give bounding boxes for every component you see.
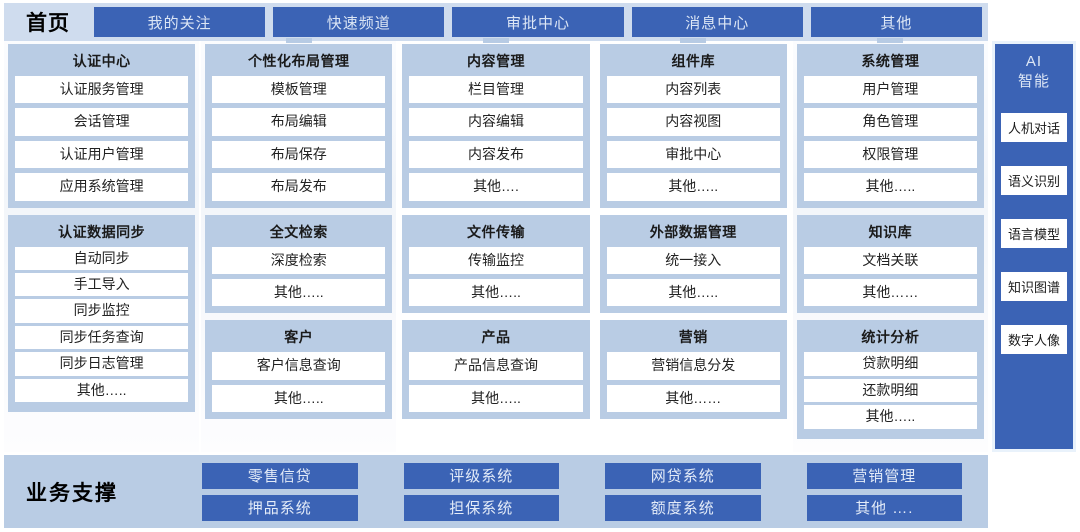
ai-item-human-machine-dialog[interactable]: 人机对话 [1001, 113, 1067, 142]
menu-item[interactable]: 营销信息分发 [607, 352, 780, 379]
group-content-management: 内容管理 栏目管理 内容编辑 内容发布 其他…. [402, 44, 589, 208]
ai-title-line-1: AI [1018, 52, 1050, 72]
menu-item[interactable]: 模板管理 [212, 76, 385, 103]
group-personalized-layout: 个性化布局管理 模板管理 布局编辑 布局保存 布局发布 [205, 44, 392, 208]
menu-item[interactable]: 栏目管理 [409, 76, 582, 103]
menu-item[interactable]: 统一接入 [607, 247, 780, 274]
group-fulltext-search: 全文检索 深度检索 其他….. [205, 215, 392, 314]
business-support-systems: 零售信贷 评级系统 网贷系统 营销管理 押品系统 担保系统 额度系统 其他 …. [202, 463, 980, 521]
group-title: 个性化布局管理 [212, 48, 385, 76]
menu-item[interactable]: 内容视图 [607, 108, 780, 135]
business-support-bar: 业务支撑 零售信贷 评级系统 网贷系统 营销管理 押品系统 担保系统 额度系统 … [4, 455, 988, 528]
menu-item[interactable]: 其他….. [212, 385, 385, 412]
group-system-management: 系统管理 用户管理 角色管理 权限管理 其他….. [797, 44, 984, 208]
system-online-loan[interactable]: 网贷系统 [605, 463, 761, 489]
group-component-library: 组件库 内容列表 内容视图 审批中心 其他….. [600, 44, 787, 208]
menu-item[interactable]: 自动同步 [15, 247, 188, 270]
group-auth-data-sync: 认证数据同步 自动同步 手工导入 同步监控 同步任务查询 同步日志管理 其他….… [8, 215, 195, 412]
system-other[interactable]: 其他 …. [807, 495, 963, 521]
menu-item[interactable]: 文档关联 [804, 247, 977, 274]
ai-title-line-2: 智能 [1018, 72, 1050, 92]
module-column-3: 内容管理 栏目管理 内容编辑 内容发布 其他…. 文件传输 传输监控 其他…..… [398, 41, 593, 452]
menu-item[interactable]: 传输监控 [409, 247, 582, 274]
tab-my-focus[interactable]: 我的关注 [94, 7, 265, 37]
menu-item[interactable]: 布局编辑 [212, 108, 385, 135]
system-credit-limit[interactable]: 额度系统 [605, 495, 761, 521]
menu-item[interactable]: 应用系统管理 [15, 173, 188, 200]
menu-item[interactable]: 贷款明细 [804, 352, 977, 375]
menu-item[interactable]: 其他….. [212, 279, 385, 306]
system-retail-credit[interactable]: 零售信贷 [202, 463, 358, 489]
ai-item-digital-persona[interactable]: 数字人像 [1001, 325, 1067, 354]
system-guarantee[interactable]: 担保系统 [404, 495, 560, 521]
menu-item[interactable]: 其他….. [409, 385, 582, 412]
ai-sidebar: AI 智能 人机对话 语义识别 语言模型 知识图谱 数字人像 [992, 41, 1076, 452]
tab-connector-notch [483, 38, 509, 43]
top-tab-bar: 首页 我的关注 快速频道 审批中心 消息中心 其他 [4, 3, 988, 41]
group-product: 产品 产品信息查询 其他….. [402, 320, 589, 419]
menu-item[interactable]: 同步任务查询 [15, 326, 188, 349]
tab-connector-notch [877, 38, 903, 43]
group-title: 客户 [212, 324, 385, 352]
tab-quick-channel[interactable]: 快速频道 [273, 7, 444, 37]
module-column-4: 组件库 内容列表 内容视图 审批中心 其他….. 外部数据管理 统一接入 其他…… [596, 41, 791, 452]
ai-item-knowledge-graph[interactable]: 知识图谱 [1001, 272, 1067, 301]
group-statistical-analysis: 统计分析 贷款明细 还款明细 其他….. [797, 320, 984, 438]
menu-item[interactable]: 角色管理 [804, 108, 977, 135]
menu-item[interactable]: 布局发布 [212, 173, 385, 200]
ai-item-language-model[interactable]: 语言模型 [1001, 219, 1067, 248]
group-title: 全文检索 [212, 219, 385, 247]
ai-sidebar-title: AI 智能 [1018, 52, 1050, 93]
module-column-5: 系统管理 用户管理 角色管理 权限管理 其他….. 知识库 文档关联 其他…… … [793, 41, 988, 452]
page-title: 首页 [6, 7, 90, 37]
group-knowledge-base: 知识库 文档关联 其他…… [797, 215, 984, 314]
menu-item[interactable]: 产品信息查询 [409, 352, 582, 379]
group-title: 系统管理 [804, 48, 977, 76]
menu-item[interactable]: 同步日志管理 [15, 352, 188, 375]
module-column-1: 认证中心 认证服务管理 会话管理 认证用户管理 应用系统管理 认证数据同步 自动… [4, 41, 199, 452]
group-customer: 客户 客户信息查询 其他….. [205, 320, 392, 419]
menu-item[interactable]: 内容列表 [607, 76, 780, 103]
system-rating[interactable]: 评级系统 [404, 463, 560, 489]
system-marketing-management[interactable]: 营销管理 [807, 463, 963, 489]
group-external-data-management: 外部数据管理 统一接入 其他….. [600, 215, 787, 314]
menu-item[interactable]: 手工导入 [15, 273, 188, 296]
menu-item[interactable]: 审批中心 [607, 141, 780, 168]
group-title: 外部数据管理 [607, 219, 780, 247]
tab-connector-notch [680, 38, 706, 43]
module-column-2: 个性化布局管理 模板管理 布局编辑 布局保存 布局发布 全文检索 深度检索 其他… [201, 41, 396, 452]
menu-item[interactable]: 会话管理 [15, 108, 188, 135]
menu-item[interactable]: 深度检索 [212, 247, 385, 274]
menu-item[interactable]: 其他….. [409, 279, 582, 306]
tab-message-center[interactable]: 消息中心 [632, 7, 803, 37]
menu-item[interactable]: 布局保存 [212, 141, 385, 168]
menu-item[interactable]: 认证服务管理 [15, 76, 188, 103]
menu-item[interactable]: 其他….. [607, 173, 780, 200]
tab-connector-notch [286, 38, 312, 43]
group-title: 统计分析 [804, 324, 977, 352]
group-title: 组件库 [607, 48, 780, 76]
menu-item[interactable]: 用户管理 [804, 76, 977, 103]
menu-item[interactable]: 其他….. [15, 379, 188, 402]
group-title: 知识库 [804, 219, 977, 247]
menu-item[interactable]: 其他….. [804, 405, 977, 428]
business-support-label: 业务支撑 [12, 477, 202, 507]
menu-item[interactable]: 其他…… [607, 385, 780, 412]
menu-item[interactable]: 其他….. [804, 173, 977, 200]
group-title: 认证中心 [15, 48, 188, 76]
ai-item-semantic-recognition[interactable]: 语义识别 [1001, 166, 1067, 195]
group-title: 内容管理 [409, 48, 582, 76]
module-columns: 认证中心 认证服务管理 会话管理 认证用户管理 应用系统管理 认证数据同步 自动… [4, 41, 988, 452]
menu-item[interactable]: 内容编辑 [409, 108, 582, 135]
group-title: 文件传输 [409, 219, 582, 247]
menu-item[interactable]: 还款明细 [804, 379, 977, 402]
group-auth-center: 认证中心 认证服务管理 会话管理 认证用户管理 应用系统管理 [8, 44, 195, 208]
group-title: 认证数据同步 [15, 219, 188, 247]
group-title: 产品 [409, 324, 582, 352]
group-marketing: 营销 营销信息分发 其他…… [600, 320, 787, 419]
menu-item[interactable]: 权限管理 [804, 141, 977, 168]
menu-item[interactable]: 认证用户管理 [15, 141, 188, 168]
menu-item[interactable]: 其他…. [409, 173, 582, 200]
menu-item[interactable]: 客户信息查询 [212, 352, 385, 379]
menu-item[interactable]: 其他….. [607, 279, 780, 306]
portal-home-page: 首页 我的关注 快速频道 审批中心 消息中心 其他 认证中心 认证服务管理 会话… [0, 0, 1080, 532]
menu-item[interactable]: 内容发布 [409, 141, 582, 168]
system-collateral[interactable]: 押品系统 [202, 495, 358, 521]
ai-panel: AI 智能 人机对话 语义识别 语言模型 知识图谱 数字人像 [995, 44, 1073, 449]
menu-item[interactable]: 其他…… [804, 279, 977, 306]
tab-approval-center[interactable]: 审批中心 [452, 7, 623, 37]
tab-other[interactable]: 其他 [811, 7, 982, 37]
group-title: 营销 [607, 324, 780, 352]
group-file-transfer: 文件传输 传输监控 其他….. [402, 215, 589, 314]
menu-item[interactable]: 同步监控 [15, 299, 188, 322]
